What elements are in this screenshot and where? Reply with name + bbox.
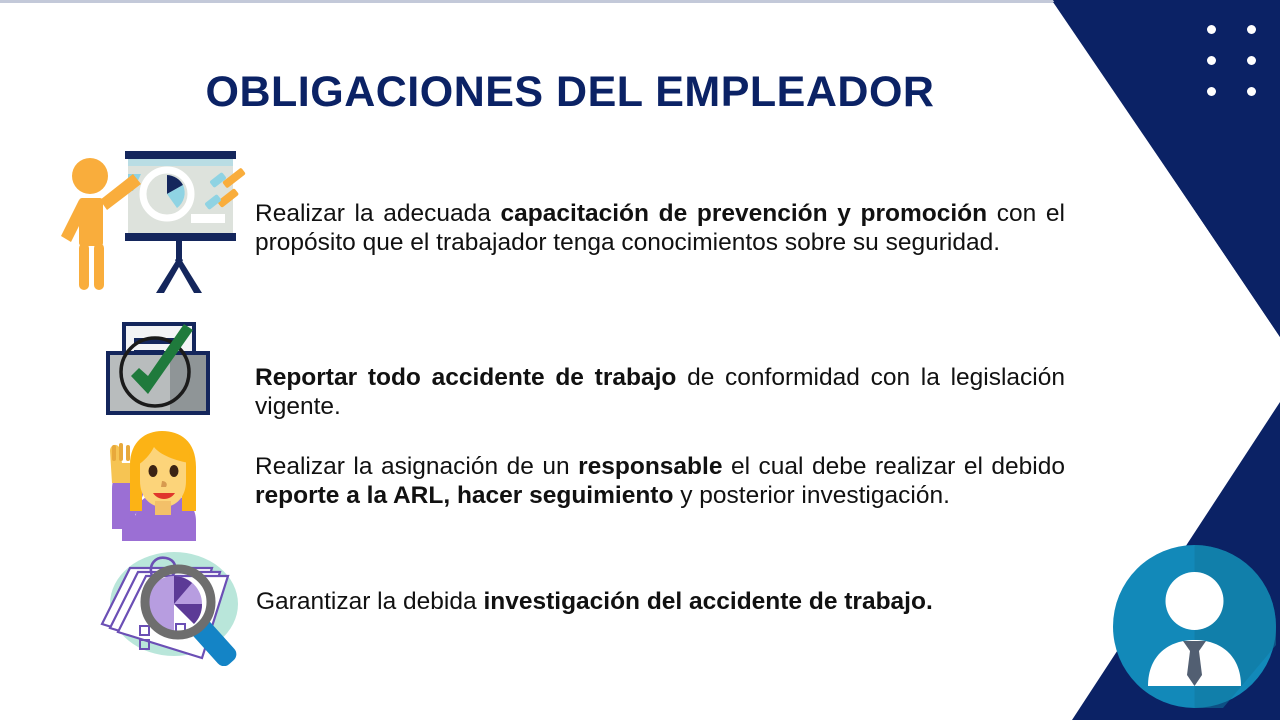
- segment-bold: Reportar todo accidente de trabajo: [255, 364, 676, 391]
- dot-grid-decoration: [1207, 25, 1267, 105]
- document-check-icon: [98, 320, 220, 420]
- top-rule-divider: [0, 0, 1280, 3]
- woman-raising-hand-icon: [100, 429, 214, 541]
- list-item: Garantizar la debida investigación del a…: [90, 546, 1066, 666]
- presentation-trainer-icon: [55, 148, 255, 298]
- clipboard-magnifier-icon: [90, 546, 254, 666]
- segment-bold: investigación del accidente de trabajo.: [483, 588, 932, 615]
- dot: [1247, 25, 1256, 34]
- segment: Garantizar la debida: [256, 588, 483, 615]
- segment: y posterior investigación.: [673, 482, 949, 509]
- list-item-text: Garantizar la debida investigación del a…: [256, 588, 1066, 617]
- segment: el cual debe realizar el debido: [722, 453, 1065, 480]
- segment: Realizar la adecuada: [255, 200, 501, 227]
- list-item-text: Reportar todo accidente de trabajo de co…: [255, 364, 1065, 421]
- segment-bold: reporte a la ARL, hacer seguimiento: [255, 482, 673, 509]
- dot: [1207, 56, 1216, 65]
- list-item: Realizar la asignación de un responsable…: [100, 429, 1065, 541]
- segment-bold: capacitación de prevención y promoción: [501, 200, 988, 227]
- dot: [1207, 87, 1216, 96]
- list-item-text: Realizar la adecuada capacitación de pre…: [255, 200, 1065, 257]
- dot: [1247, 87, 1256, 96]
- dot: [1207, 25, 1216, 34]
- page-title: OBLIGACIONES DEL EMPLEADOR: [0, 68, 1140, 117]
- list-item-text: Realizar la asignación de un responsable…: [255, 453, 1065, 510]
- slide-canvas: OBLIGACIONES DEL EMPLEADOR: [0, 0, 1280, 720]
- list-item: Reportar todo accidente de trabajo de co…: [98, 320, 1065, 421]
- person-avatar-icon: [1113, 545, 1276, 708]
- segment: Realizar la asignación de un: [255, 453, 578, 480]
- list-item: Realizar la adecuada capacitación de pre…: [55, 148, 1065, 298]
- dot: [1247, 56, 1256, 65]
- segment-bold: responsable: [578, 453, 722, 480]
